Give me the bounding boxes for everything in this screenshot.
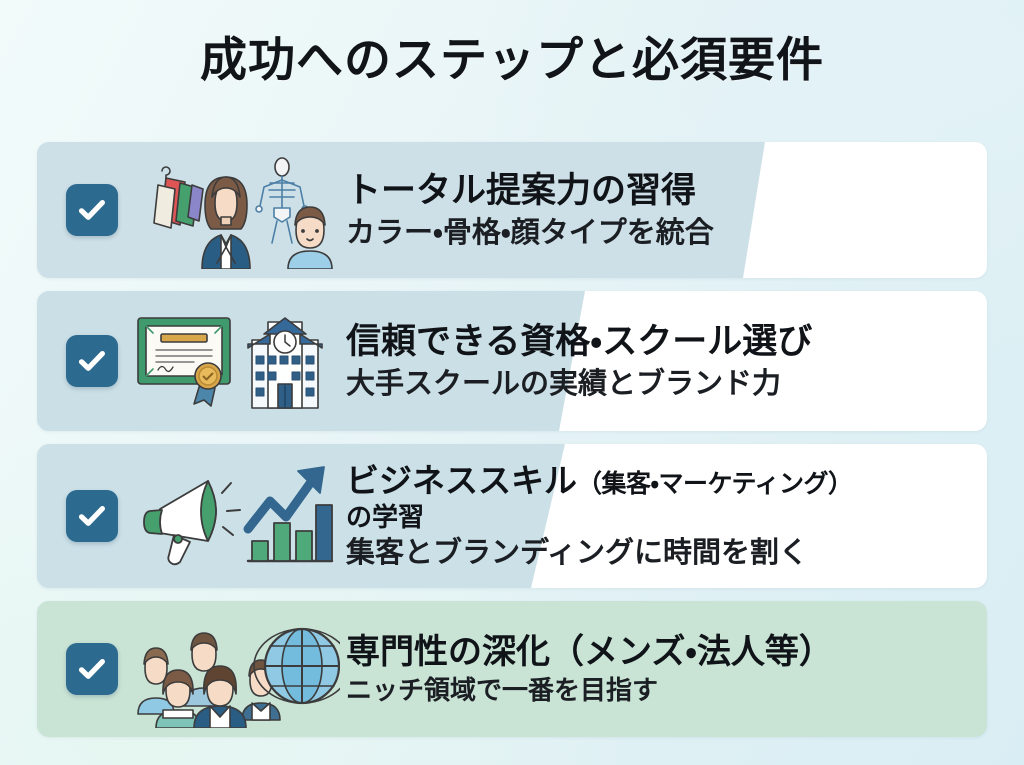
row-heading: トータル提案力の習得: [346, 170, 973, 213]
color-swatches-stylist-skeleton-child-icon: [130, 151, 340, 269]
certificate-and-school-building-icon: [130, 302, 340, 420]
title-block: 成功へのステップと必須要件: [0, 32, 1024, 90]
slide-canvas: 成功へのステップと必須要件: [0, 0, 1024, 765]
row-illustration-2: [130, 302, 340, 420]
row-subtext: 大手スクールの実績とブランド力: [346, 364, 973, 402]
checklist-row[interactable]: 専門性の深化（メンズ・法人等） ニッチ領域で一番を目指す: [37, 601, 987, 737]
row-heading: ビジネススキル（集客・マーケティング） の学習: [346, 462, 973, 533]
row-heading: 専門性の深化（メンズ・法人等）: [346, 630, 973, 674]
row-heading-main: ビジネススキル: [346, 461, 577, 500]
row-text-4: 専門性の深化（メンズ・法人等） ニッチ領域で一番を目指す: [346, 630, 987, 708]
checkbox-checked[interactable]: [66, 490, 118, 542]
checklist-row[interactable]: 信頼できる資格・スクール選び 大手スクールの実績とブランド力: [37, 291, 987, 431]
checkbox-checked[interactable]: [66, 184, 118, 236]
check-icon: [75, 344, 109, 378]
row-heading: 信頼できる資格・スクール選び: [346, 321, 973, 364]
row-text-3: ビジネススキル（集客・マーケティング） の学習 集客とブランディングに時間を割く: [346, 462, 987, 571]
row-subtext: ニッチ領域で一番を目指す: [346, 674, 973, 708]
check-icon: [75, 499, 109, 533]
row-illustration-4: [130, 610, 340, 728]
check-icon: [75, 652, 109, 686]
row-heading-paren: （集客・マーケティング）: [577, 469, 853, 498]
checklist-row[interactable]: ビジネススキル（集客・マーケティング） の学習 集客とブランディングに時間を割く: [37, 444, 987, 588]
checkbox-checked[interactable]: [66, 335, 118, 387]
row-heading-continued: の学習: [346, 503, 973, 533]
row-text-1: トータル提案力の習得 カラー・骨格・顔タイプを統合: [346, 170, 987, 251]
row-illustration-3: [130, 457, 340, 575]
people-group-and-globe-icon: [130, 610, 340, 728]
checklist-row[interactable]: トータル提案力の習得 カラー・骨格・顔タイプを統合: [37, 142, 987, 278]
check-icon: [75, 193, 109, 227]
megaphone-and-growth-chart-icon: [130, 457, 340, 575]
page-title: 成功へのステップと必須要件: [0, 32, 1024, 90]
row-illustration-1: [130, 151, 340, 269]
row-subtext: カラー・骨格・顔タイプを統合: [346, 213, 973, 251]
checkbox-checked[interactable]: [66, 643, 118, 695]
row-subtext: 集客とブランディングに時間を割く: [346, 533, 973, 571]
row-text-2: 信頼できる資格・スクール選び 大手スクールの実績とブランド力: [346, 321, 987, 402]
